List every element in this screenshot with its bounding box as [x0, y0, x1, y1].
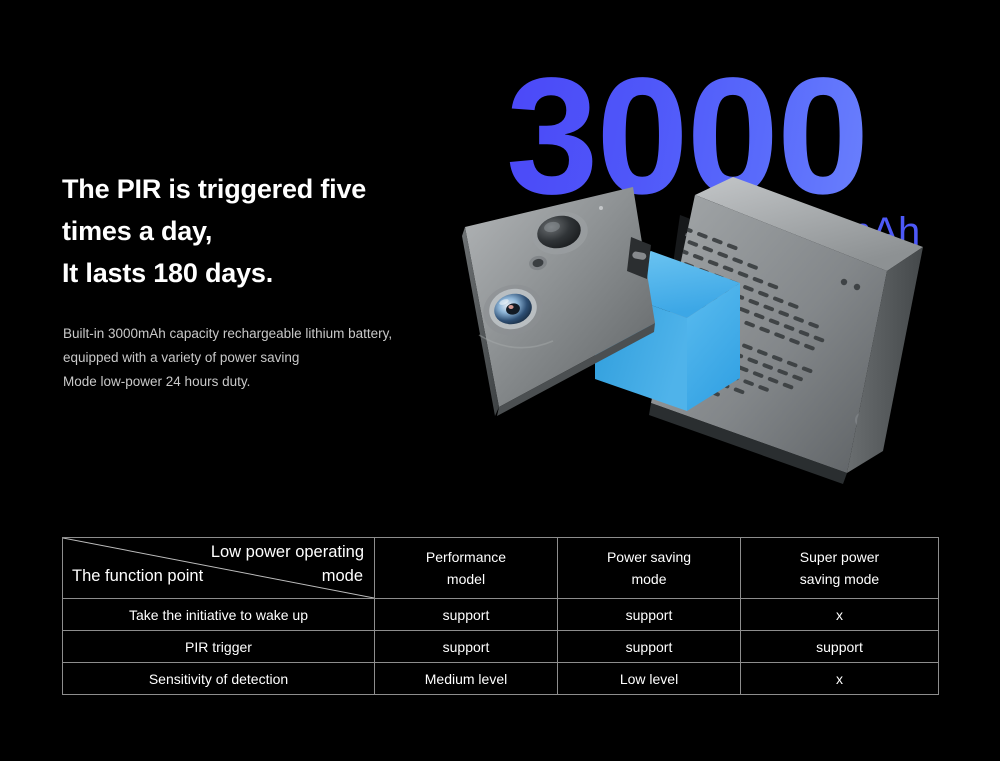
row-value-performance: Medium level — [375, 663, 558, 695]
column-header-performance-model: Performance model — [375, 538, 558, 599]
column-header-line2: model — [375, 568, 557, 590]
row-value-power-saving: support — [558, 599, 741, 631]
body-copy-block: Built-in 3000mAh capacity rechargeable l… — [63, 322, 493, 394]
headline-block: The PIR is triggered five times a day, I… — [62, 168, 492, 294]
column-header-super-power-saving-mode: Super power saving mode — [741, 538, 939, 599]
row-value-power-saving: Low level — [558, 663, 741, 695]
row-feature-label: PIR trigger — [63, 631, 375, 663]
table-row: PIR trigger support support support — [63, 631, 939, 663]
table-row: Take the initiative to wake up support s… — [63, 599, 939, 631]
column-header-line1: Power saving — [558, 546, 740, 568]
corner-row-label: The function point — [72, 567, 203, 586]
column-header-power-saving-mode: Power saving mode — [558, 538, 741, 599]
row-value-performance: support — [375, 631, 558, 663]
body-copy-line-1: Built-in 3000mAh capacity rechargeable l… — [63, 322, 493, 346]
row-value-power-saving: support — [558, 631, 741, 663]
row-value-super-power-saving: x — [741, 599, 939, 631]
row-value-super-power-saving: x — [741, 663, 939, 695]
row-value-performance: support — [375, 599, 558, 631]
column-header-line2: saving mode — [741, 568, 938, 590]
corner-column-label-line2: mode — [322, 567, 363, 586]
body-copy-line-2: equipped with a variety of power saving — [63, 346, 493, 370]
corner-column-label-line1: Low power operating — [211, 543, 364, 562]
column-header-line1: Super power — [741, 546, 938, 568]
headline-line-1: The PIR is triggered five — [62, 168, 492, 210]
row-value-super-power-saving: support — [741, 631, 939, 663]
headline-line-2: times a day, — [62, 210, 492, 252]
row-feature-label: Sensitivity of detection — [63, 663, 375, 695]
table-header-row: Low power operating mode The function po… — [63, 538, 939, 599]
column-header-line2: mode — [558, 568, 740, 590]
column-header-line1: Performance — [375, 546, 557, 568]
table-row: Sensitivity of detection Medium level Lo… — [63, 663, 939, 695]
table-corner-cell: Low power operating mode The function po… — [63, 538, 375, 599]
row-feature-label: Take the initiative to wake up — [63, 599, 375, 631]
power-mode-comparison-table: Low power operating mode The function po… — [62, 537, 939, 695]
product-image — [455, 175, 985, 520]
headline-line-3: It lasts 180 days. — [62, 252, 492, 294]
body-copy-line-3: Mode low-power 24 hours duty. — [63, 370, 493, 394]
